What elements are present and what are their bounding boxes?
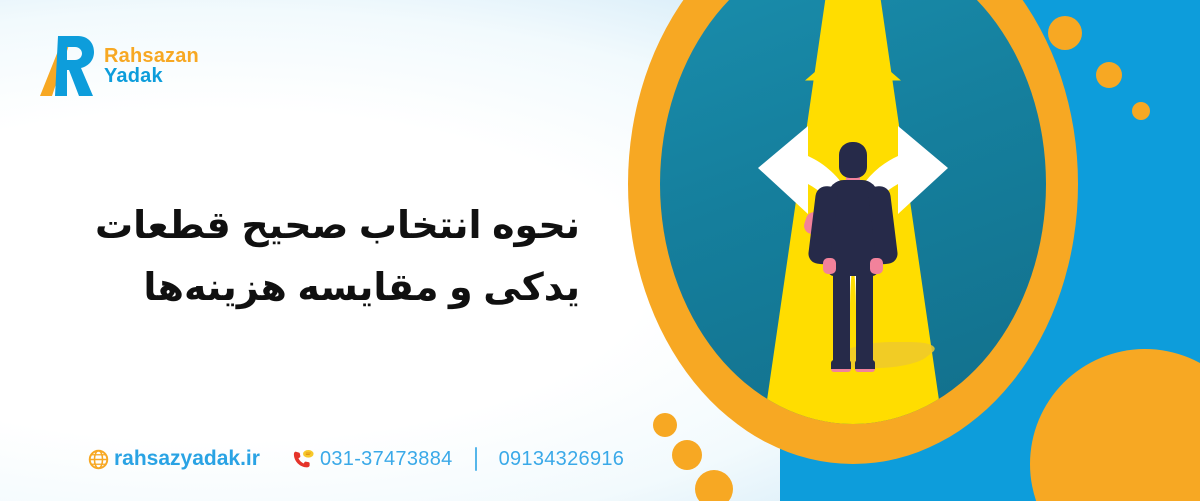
website-link[interactable]: rahsazyadak.ir — [88, 447, 260, 471]
person-shoe — [855, 360, 875, 372]
landline-phone[interactable]: 031-37473884 — [292, 448, 453, 471]
brand-logo[interactable]: Rahsazan Yadak — [34, 34, 199, 98]
promo-banner: Rahsazan Yadak نحوه انتخاب صحیح قطعات ید… — [0, 0, 1200, 501]
contact-bar: rahsazyadak.ir 031-37473884 09134326916 — [88, 447, 624, 471]
person-head — [839, 142, 867, 178]
brand-logo-text: Rahsazan Yadak — [104, 46, 199, 87]
brand-name-line1: Rahsazan — [104, 46, 199, 66]
brand-name-line2: Yadak — [104, 66, 199, 86]
page-title: نحوه انتخاب صحیح قطعات یدکی و مقایسه هزی… — [60, 196, 580, 319]
headline-line-2: یدکی و مقایسه هزینه‌ها — [60, 258, 580, 320]
decor-dot — [1096, 62, 1122, 88]
website-text: rahsazyadak.ir — [114, 447, 260, 471]
crossroads-illustration — [628, 0, 1078, 464]
person-leg — [833, 268, 850, 364]
person-shoe — [831, 360, 851, 372]
globe-icon — [88, 449, 109, 470]
person-hand — [870, 258, 883, 274]
decor-dot — [672, 440, 702, 470]
mobile-number[interactable]: 09134326916 — [499, 448, 625, 471]
decor-dot — [695, 470, 733, 501]
person-leg — [856, 268, 873, 364]
r-monogram-icon — [34, 34, 96, 98]
headline-line-1: نحوه انتخاب صحیح قطعات — [60, 196, 580, 258]
decor-dot — [653, 413, 677, 437]
contact-divider — [475, 447, 477, 471]
landline-number: 031-37473884 — [320, 448, 453, 471]
standing-person-icon — [813, 142, 893, 372]
person-hand — [823, 258, 836, 274]
decor-dot — [1132, 102, 1150, 120]
phone-call-icon — [292, 449, 315, 470]
